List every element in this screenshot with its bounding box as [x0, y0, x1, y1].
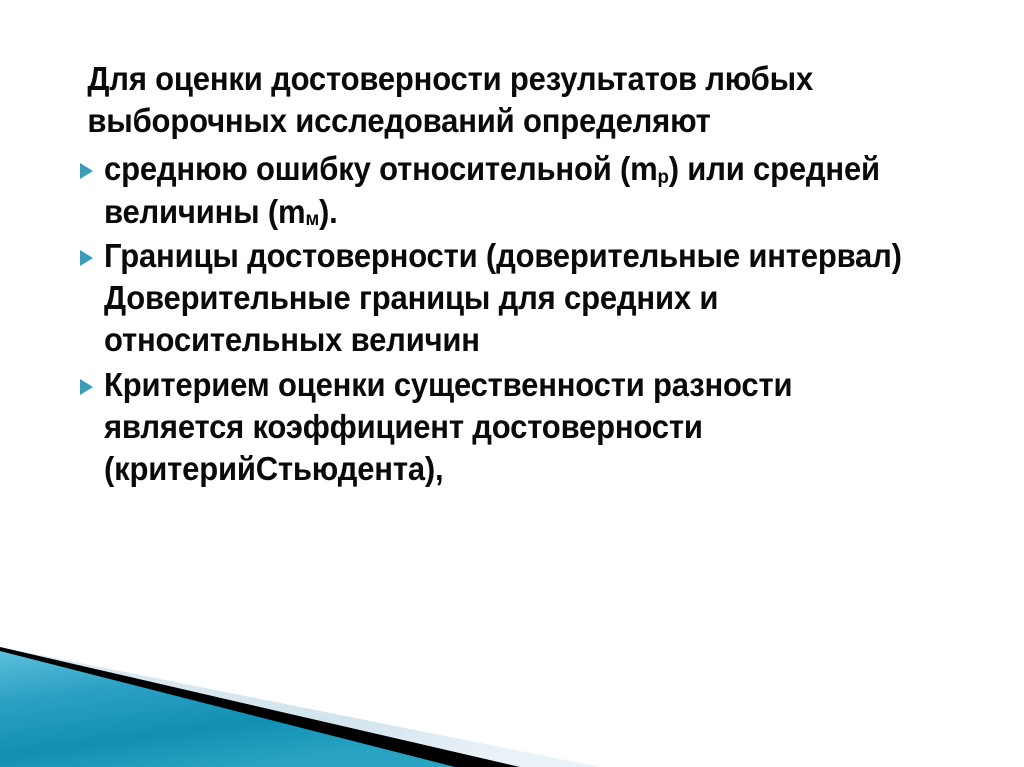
- bullet-part-text-1: среднюю ошибку относительной (m: [104, 150, 658, 187]
- bullet-text-student-criterion: Критерием оценки существенности разности…: [104, 364, 916, 491]
- teal-gradient-triangle: [0, 651, 455, 767]
- bullet-text-mean-error: среднюю ошибку относительной (mp) или ср…: [104, 148, 916, 232]
- bullet-item-mean-error: среднюю ошибку относительной (mp) или ср…: [78, 148, 968, 232]
- arrow-bullet-icon: [78, 148, 104, 180]
- slide-content-body: Для оценки достоверности результатов люб…: [78, 58, 968, 492]
- arrow-bullet-icon: [78, 235, 104, 267]
- black-diagonal-stripe: [0, 647, 520, 767]
- bullet-item-student-criterion: Критерием оценки существенности разности…: [78, 364, 968, 491]
- arrow-bullet-icon: [78, 364, 104, 396]
- pale-blue-wedge: [0, 647, 600, 767]
- subscript-m: м: [305, 208, 319, 230]
- subscript-p: p: [658, 166, 669, 188]
- bullet-list: среднюю ошибку относительной (mp) или ср…: [78, 148, 968, 490]
- angles-corner-graphic: [0, 627, 1024, 767]
- slide-canvas: Для оценки достоверности результатов люб…: [0, 0, 1024, 767]
- bullet-item-confidence-limits: Границы достоверности (доверительные инт…: [78, 235, 968, 362]
- bullet-text-confidence-limits: Границы достоверности (доверительные инт…: [104, 235, 916, 362]
- bullet-part-text-3: ).: [319, 193, 338, 230]
- intro-paragraph: Для оценки достоверности результатов люб…: [78, 58, 915, 142]
